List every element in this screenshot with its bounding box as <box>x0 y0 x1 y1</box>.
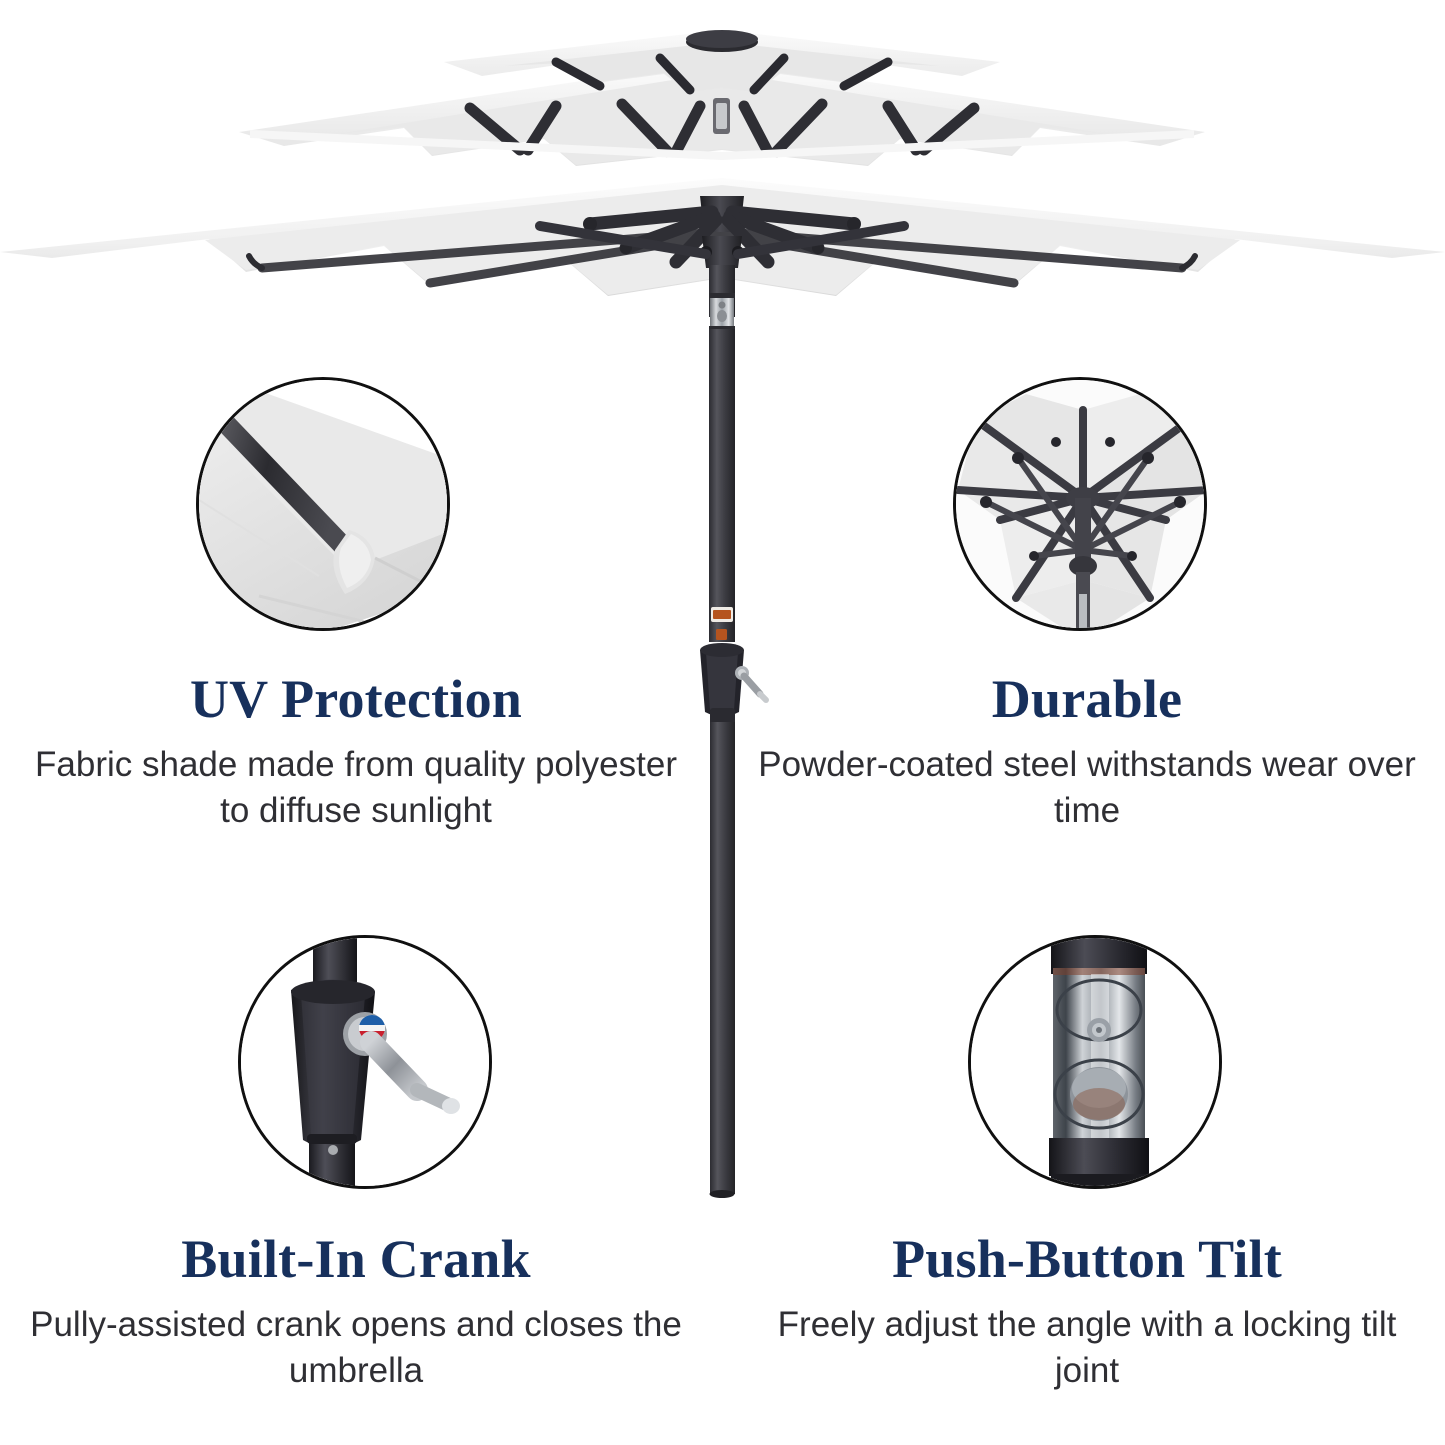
feature-block-built-in-crank: Built-In Crank Pully-assisted crank open… <box>26 1228 686 1394</box>
feature-title-built-in-crank: Built-In Crank <box>26 1228 686 1290</box>
feature-title-durable: Durable <box>757 668 1417 730</box>
detail-circle-built-in-crank <box>238 935 492 1189</box>
umbrella-hero-illustration <box>0 0 1445 1260</box>
feature-description-built-in-crank: Pully-assisted crank opens and closes th… <box>26 1302 686 1394</box>
feature-description-durable: Powder-coated steel withstands wear over… <box>757 742 1417 834</box>
feature-title-push-button-tilt: Push-Button Tilt <box>757 1228 1417 1290</box>
umbrella-underside-frame-closeup <box>956 380 1207 631</box>
infographic-page: UV Protection Fabric shade made from qua… <box>0 0 1445 1445</box>
feature-block-durable: Durable Powder-coated steel withstands w… <box>757 668 1417 834</box>
detail-circle-durable <box>953 377 1207 631</box>
feature-title-uv-protection: UV Protection <box>26 668 686 730</box>
center-pole <box>709 265 735 642</box>
detail-circle-uv-protection <box>196 377 450 631</box>
feature-block-push-button-tilt: Push-Button Tilt Freely adjust the angle… <box>757 1228 1417 1394</box>
canopy-top-tier <box>444 30 1000 92</box>
canopy-lower-tier <box>0 178 1445 296</box>
tilt-joint-closeup <box>971 938 1222 1189</box>
detail-circle-push-button-tilt <box>968 935 1222 1189</box>
canopy-hub-and-struts <box>540 196 904 268</box>
fabric-canopy-edge-closeup <box>199 380 450 631</box>
lower-pole <box>710 722 736 1198</box>
crank-handle-closeup <box>241 938 492 1189</box>
canopy-middle-tier <box>239 60 1205 166</box>
feature-description-uv-protection: Fabric shade made from quality polyester… <box>26 742 686 834</box>
feature-block-uv-protection: UV Protection Fabric shade made from qua… <box>26 668 686 834</box>
feature-description-push-button-tilt: Freely adjust the angle with a locking t… <box>757 1302 1417 1394</box>
